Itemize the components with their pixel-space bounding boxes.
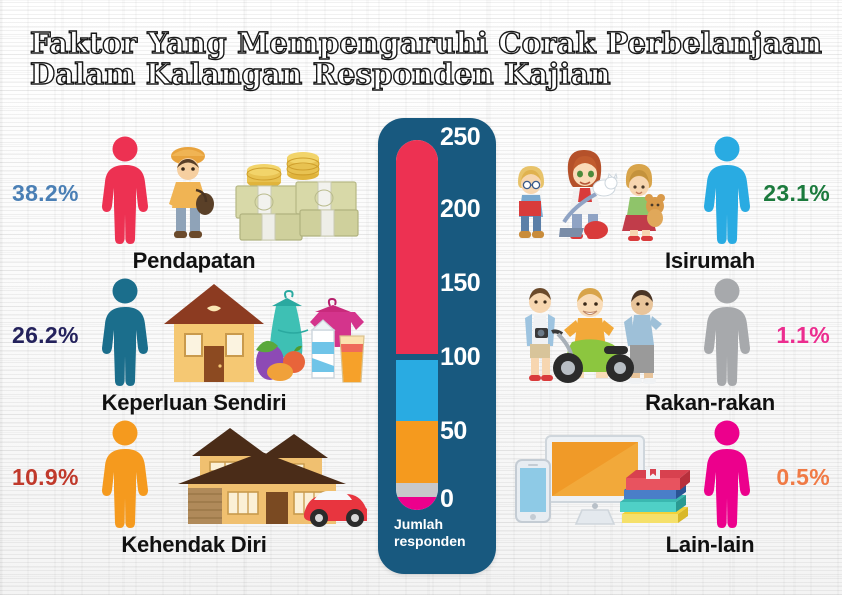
person-icon: [700, 420, 754, 528]
factor-label-lain-lain: Lain-lain: [544, 532, 842, 558]
thermometer-caption-line-1: Jumlah: [394, 516, 490, 533]
thermometer-tube: [396, 140, 438, 510]
friends-scooter-icon: [510, 280, 696, 388]
axis-tick-50: 50: [440, 417, 496, 446]
thermometer-segment-lain-lain: [396, 497, 438, 510]
person-icon: [700, 278, 754, 386]
percent-value-pendapatan: 38.2%: [12, 180, 79, 207]
factor-label-rakan-rakan: Rakan-rakan: [544, 390, 842, 416]
mansion-car-icon: [152, 422, 367, 530]
factor-row-keperluan-sendiri: 26.2%: [0, 272, 372, 412]
percent-value-isirumah: 23.1%: [763, 180, 830, 207]
thermometer-caption: Jumlah responden: [394, 516, 490, 550]
person-icon: [700, 136, 754, 244]
income-money-icon: [152, 138, 367, 246]
factor-row-rakan-rakan: 1.1%: [510, 272, 842, 412]
house-groceries-icon: [152, 280, 367, 388]
percent-value-lain-lain: 0.5%: [776, 464, 830, 491]
factor-row-isirumah: 23.1%: [510, 130, 842, 270]
factor-label-pendapatan: Pendapatan: [8, 248, 380, 274]
axis-tick-0: 0: [440, 485, 496, 514]
thermometer-segment-kehendak-diri: [396, 421, 438, 484]
factor-row-lain-lain: 0.5%: [510, 414, 842, 554]
percent-value-kehendak-diri: 10.9%: [12, 464, 79, 491]
axis-tick-250: 250: [440, 123, 496, 152]
page-title-line-1: Faktor Yang Mempengaruhi Corak Perbelanj…: [30, 28, 830, 59]
factor-label-keperluan-sendiri: Keperluan Sendiri: [8, 390, 380, 416]
page-title-line-2: Dalam Kalangan Responden Kajian: [30, 59, 830, 90]
person-icon: [98, 136, 152, 244]
person-icon: [98, 420, 152, 528]
thermometer-axis-ticks: 250 200 150 100 50 0: [440, 118, 496, 518]
percent-value-keperluan-sendiri: 26.2%: [12, 322, 79, 349]
axis-tick-200: 200: [440, 195, 496, 224]
page-title: Faktor Yang Mempengaruhi Corak Perbelanj…: [30, 28, 830, 90]
factor-row-pendapatan: 38.2%: [0, 130, 372, 270]
factor-label-isirumah: Isirumah: [544, 248, 842, 274]
percent-value-rakan-rakan: 1.1%: [776, 322, 830, 349]
thermometer-segment-rakan-rakan: [396, 483, 438, 497]
factor-label-kehendak-diri: Kehendak Diri: [8, 532, 380, 558]
thermometer-segment-isirumah: [396, 360, 438, 421]
person-icon: [98, 278, 152, 386]
thermometer-caption-line-2: responden: [394, 533, 490, 550]
axis-tick-150: 150: [440, 269, 496, 298]
family-housework-icon: [510, 138, 696, 246]
thermometer-segment-pendapatan: [396, 140, 438, 355]
factor-row-kehendak-diri: 10.9%: [0, 414, 372, 554]
computer-books-icon: [510, 422, 696, 530]
axis-tick-100: 100: [440, 343, 496, 372]
thermometer-chart: 250 200 150 100 50 0 Jumlah responden: [378, 118, 496, 574]
